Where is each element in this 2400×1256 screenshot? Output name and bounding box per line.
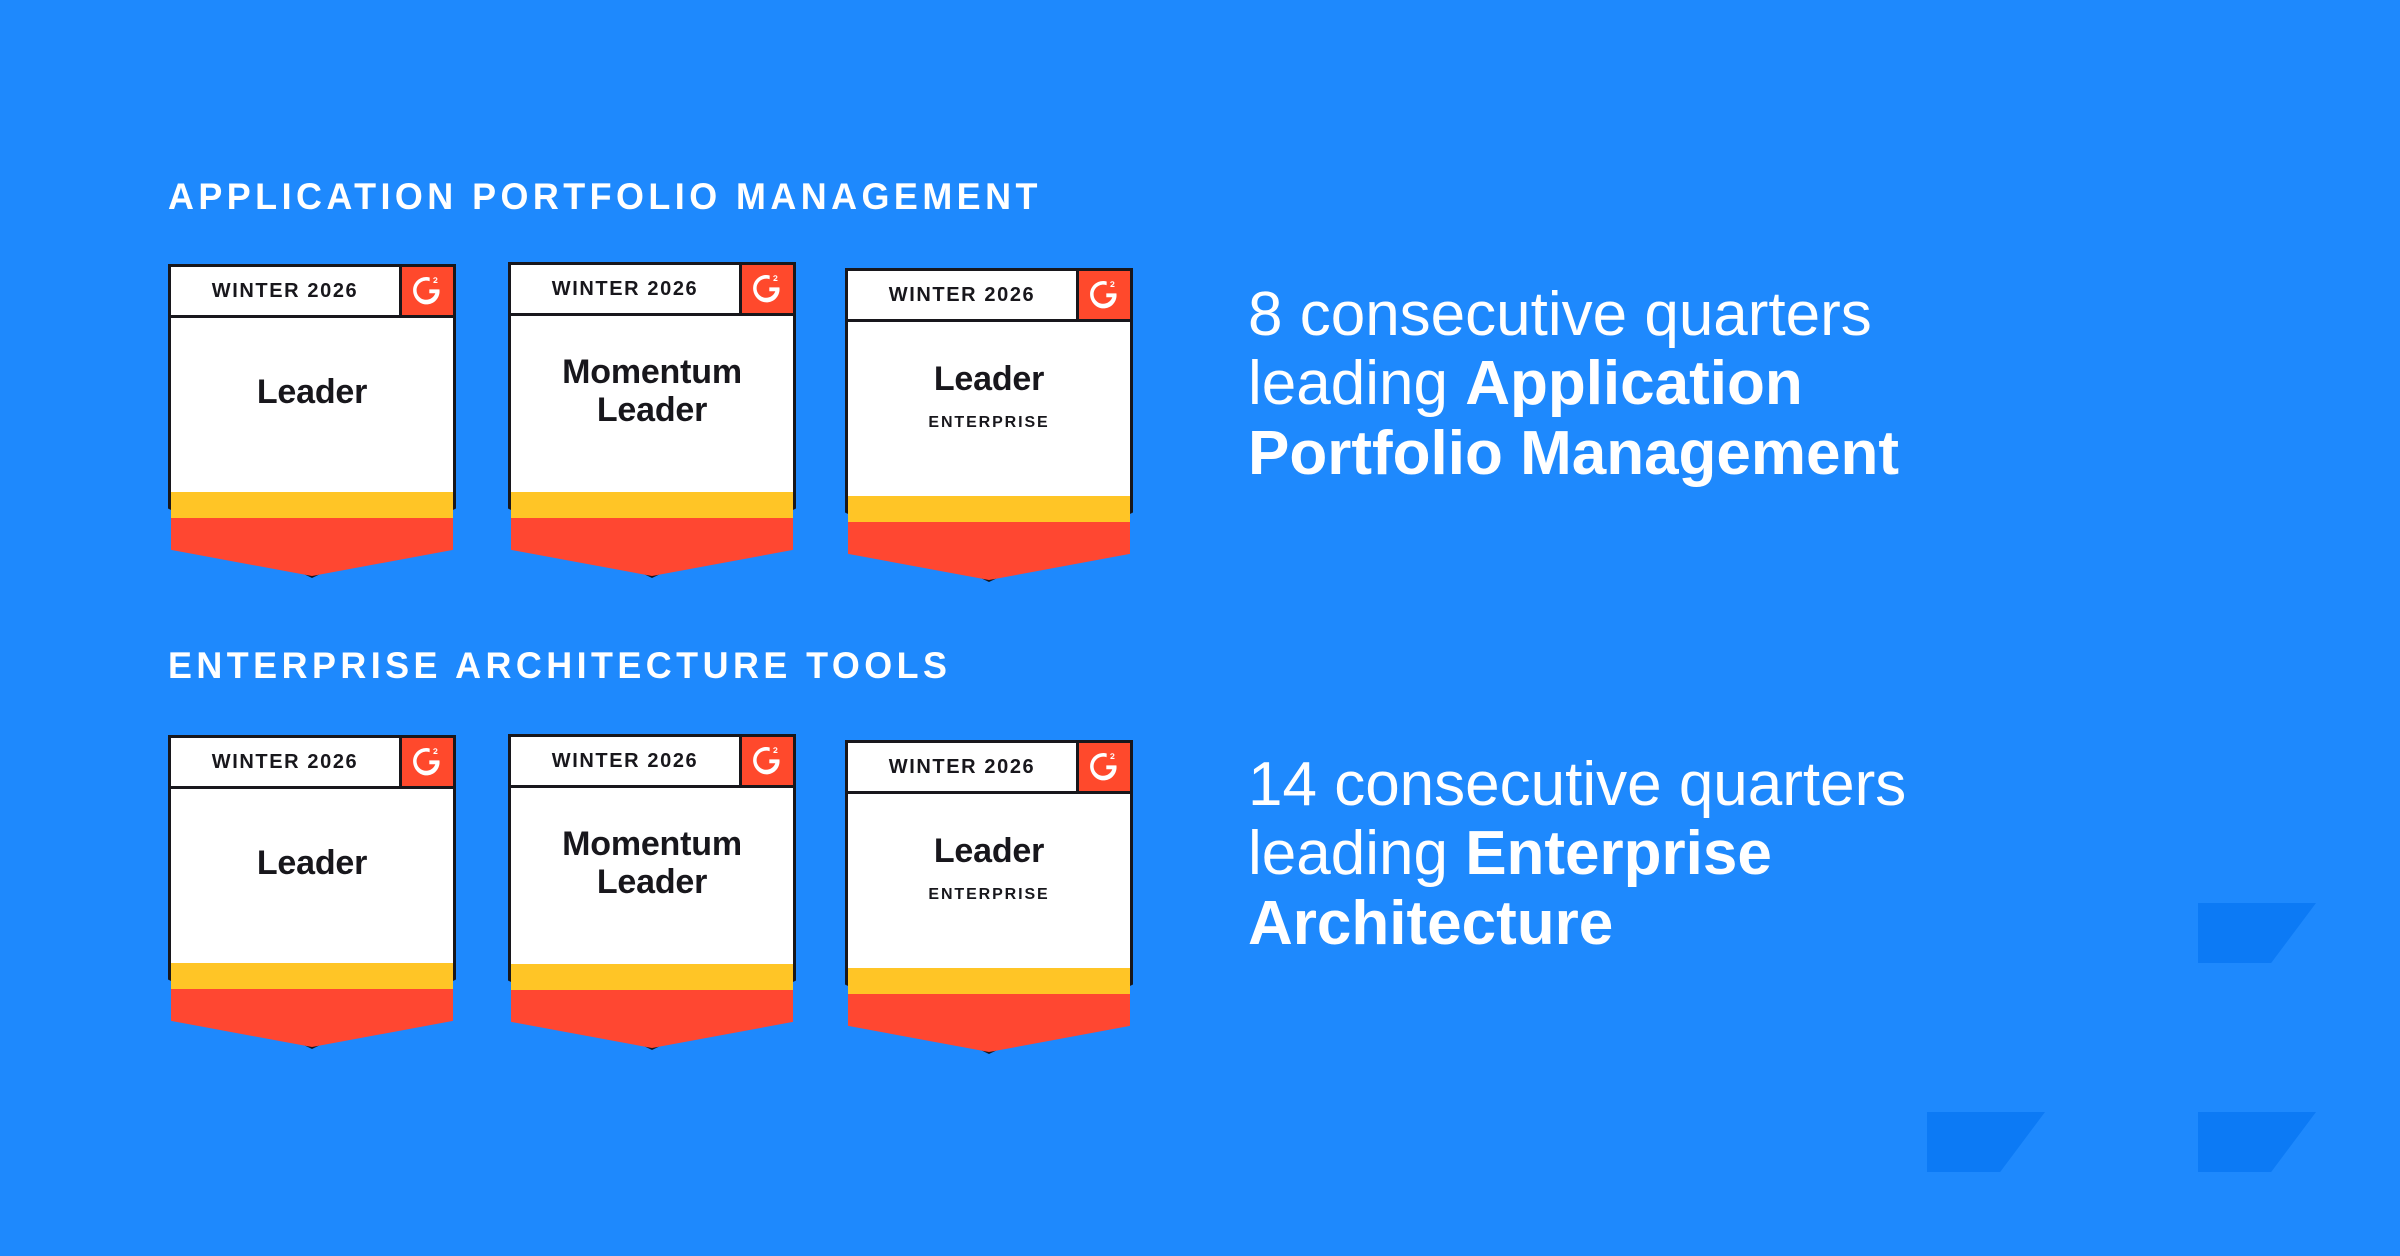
- ribbon-layer-red: [168, 518, 456, 576]
- decorative-chevron-shape-2: [1927, 1112, 2045, 1172]
- statement-enterprise-architecture: 14 consecutive quarters leading Enterpri…: [1248, 750, 2038, 958]
- g2-logo-icon: [739, 737, 793, 785]
- g2-logo-icon: [739, 265, 793, 313]
- badge-body: Leader ENTERPRISE: [845, 794, 1133, 942]
- ribbon-layer-red: [845, 994, 1133, 1052]
- g2-logo-icon: [1076, 271, 1130, 319]
- badge-body: Leader: [168, 318, 456, 466]
- badge-header: WINTER 2026: [168, 264, 456, 318]
- badge-season-label: WINTER 2026: [848, 271, 1076, 319]
- badge-ribbon: [845, 942, 1133, 1054]
- g2-badge-eat-leader: WINTER 2026 Leader: [168, 735, 456, 1049]
- g2-badge-eat-momentum-leader: WINTER 2026 Momentum Leader: [508, 734, 796, 1050]
- badge-header: WINTER 2026: [168, 735, 456, 789]
- badge-header: WINTER 2026: [845, 268, 1133, 322]
- statement-application-portfolio-management: 8 consecutive quarters leading Applicati…: [1248, 280, 2038, 488]
- badge-title: Leader: [257, 844, 367, 882]
- ribbon-layer-red: [845, 522, 1133, 580]
- decorative-chevron-shape-1: [2198, 903, 2316, 963]
- g2-badge-apm-leader: WINTER 2026 Leader: [168, 264, 456, 578]
- badge-title: Leader: [934, 360, 1044, 398]
- badge-season-label: WINTER 2026: [171, 267, 399, 315]
- ribbon-layer-red: [508, 518, 796, 576]
- badge-subtitle: ENTERPRISE: [928, 414, 1049, 432]
- badge-body: Leader ENTERPRISE: [845, 322, 1133, 470]
- badge-subtitle: ENTERPRISE: [928, 886, 1049, 904]
- section-heading-enterprise-architecture-tools: ENTERPRISE ARCHITECTURE TOOLS: [168, 645, 951, 687]
- badge-body: Leader: [168, 789, 456, 937]
- badge-body: Momentum Leader: [508, 316, 796, 466]
- g2-logo-icon: [399, 738, 453, 786]
- badge-ribbon: [508, 938, 796, 1050]
- badge-ribbon: [168, 937, 456, 1049]
- ribbon-layer-red: [168, 989, 456, 1047]
- g2-badge-apm-leader-enterprise: WINTER 2026 Leader ENTERPRISE: [845, 268, 1133, 582]
- badge-title: Momentum Leader: [511, 353, 793, 429]
- badge-season-label: WINTER 2026: [171, 738, 399, 786]
- badge-header: WINTER 2026: [845, 740, 1133, 794]
- badge-ribbon: [168, 466, 456, 578]
- ribbon-layer-red: [508, 990, 796, 1048]
- badge-body: Momentum Leader: [508, 788, 796, 938]
- section-heading-application-portfolio-management: APPLICATION PORTFOLIO MANAGEMENT: [168, 176, 1042, 218]
- badge-title: Leader: [257, 373, 367, 411]
- badge-season-label: WINTER 2026: [511, 737, 739, 785]
- badge-season-label: WINTER 2026: [511, 265, 739, 313]
- badge-header: WINTER 2026: [508, 262, 796, 316]
- poster-canvas: APPLICATION PORTFOLIO MANAGEMENT WINTER …: [0, 0, 2400, 1256]
- badge-season-label: WINTER 2026: [848, 743, 1076, 791]
- badge-ribbon: [508, 466, 796, 578]
- g2-badge-apm-momentum-leader: WINTER 2026 Momentum Leader: [508, 262, 796, 578]
- badge-ribbon: [845, 470, 1133, 582]
- g2-logo-icon: [399, 267, 453, 315]
- badge-title: Leader: [934, 832, 1044, 870]
- badge-header: WINTER 2026: [508, 734, 796, 788]
- g2-logo-icon: [1076, 743, 1130, 791]
- g2-badge-eat-leader-enterprise: WINTER 2026 Leader ENTERPRISE: [845, 740, 1133, 1054]
- badge-title: Momentum Leader: [511, 825, 793, 901]
- decorative-chevron-shape-3: [2198, 1112, 2316, 1172]
